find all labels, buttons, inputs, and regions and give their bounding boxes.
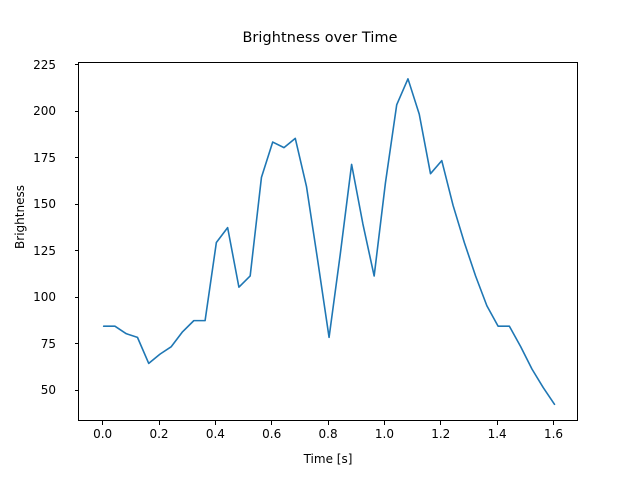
x-tick-mark [271, 421, 272, 425]
x-axis-label: Time [s] [78, 452, 578, 466]
x-tick-label: 0.6 [262, 428, 281, 440]
x-tick-label: 1.0 [375, 428, 394, 440]
y-tick-label: 200 [33, 105, 56, 117]
y-axis-label: Brightness [13, 137, 27, 297]
x-tick-mark [440, 421, 441, 425]
y-tick-label: 150 [33, 198, 56, 210]
x-tick-label: 0.2 [149, 428, 168, 440]
x-tick-label: 1.4 [488, 428, 507, 440]
y-tick-mark [75, 343, 79, 344]
x-tick-label: 0.4 [206, 428, 225, 440]
y-tick-label: 225 [33, 59, 56, 71]
brightness-line [104, 79, 555, 405]
y-tick-label: 175 [33, 152, 56, 164]
y-tick-mark [75, 204, 79, 205]
page-title: Brightness over Time [0, 30, 640, 46]
x-tick-label: 1.6 [544, 428, 563, 440]
x-tick-mark [215, 421, 216, 425]
plot-axes [78, 62, 578, 421]
x-tick-label: 0.0 [93, 428, 112, 440]
x-tick-label: 0.8 [319, 428, 338, 440]
y-tick-label: 100 [33, 291, 56, 303]
y-tick-mark [75, 297, 79, 298]
line-series-svg [79, 63, 579, 422]
y-tick-mark [75, 157, 79, 158]
x-tick-mark [102, 421, 103, 425]
figure-canvas: Brightness over Time 5075100125150175200… [0, 0, 640, 480]
y-tick-mark [75, 390, 79, 391]
x-tick-mark [159, 421, 160, 425]
x-tick-label: 1.2 [431, 428, 450, 440]
y-tick-mark [75, 111, 79, 112]
y-tick-mark [75, 250, 79, 251]
x-tick-mark [553, 421, 554, 425]
x-tick-mark [328, 421, 329, 425]
y-tick-mark [75, 64, 79, 65]
y-tick-label: 75 [41, 338, 56, 350]
y-tick-label: 50 [41, 384, 56, 396]
x-tick-mark [384, 421, 385, 425]
x-tick-mark [497, 421, 498, 425]
y-tick-label: 125 [33, 245, 56, 257]
